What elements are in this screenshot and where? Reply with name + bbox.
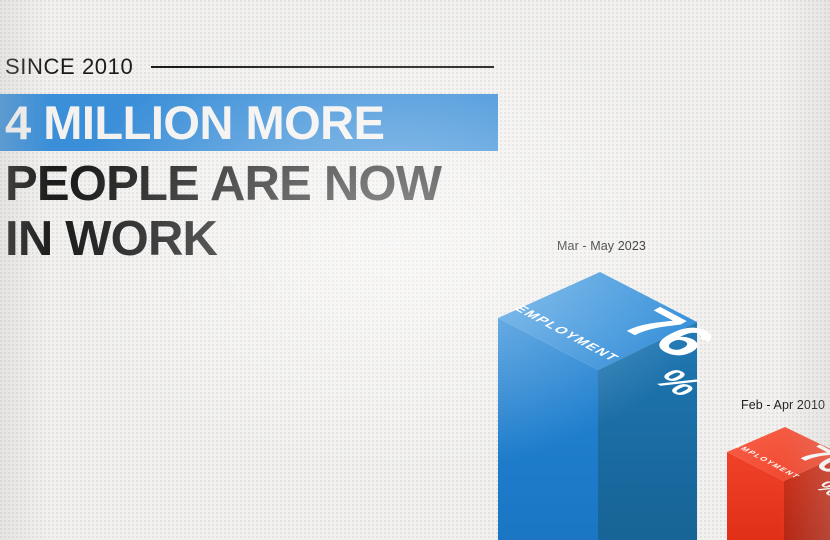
bar-label-2010: Feb - Apr 2010 xyxy=(741,398,825,412)
bar-group-2010: Feb - Apr 2010 xyxy=(0,0,830,540)
infographic-canvas: SINCE 2010 4 MILLION MORE PEOPLE ARE NOW… xyxy=(0,0,830,540)
bar-cube-2010: 70 % EMPLOYMENT xyxy=(727,425,830,540)
